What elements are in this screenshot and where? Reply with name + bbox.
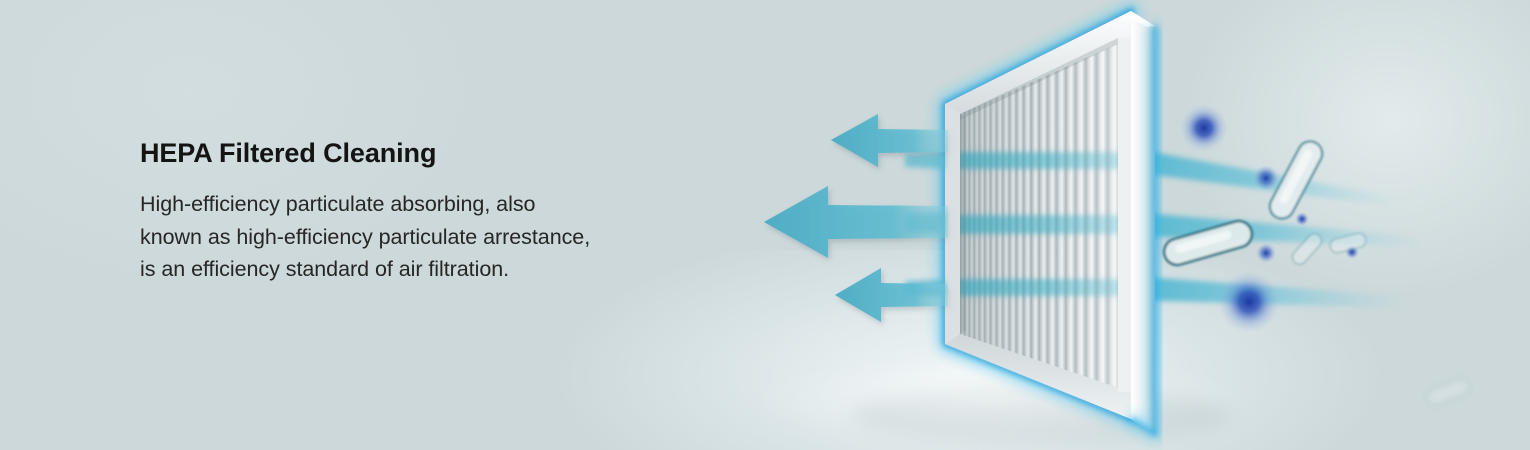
panel-floor-highlight (750, 354, 1250, 446)
germ-rod-large (1161, 218, 1255, 268)
description-line-3: is an efficiency standard of air filtrat… (140, 257, 509, 281)
filter-frame-rail-right (1118, 38, 1131, 392)
particle-dot-2 (1253, 165, 1279, 191)
pleated-hepa-filter-panel (945, 11, 1155, 434)
stream-through-media (950, 152, 1135, 296)
background-glow-right (1180, 0, 1530, 300)
text-block: HEPA Filtered Cleaning High-efficiency p… (140, 138, 740, 286)
particle-dot-1 (1180, 104, 1228, 152)
clean-air-shaft-middle (905, 213, 945, 234)
filter-panel-glow (945, 11, 1131, 419)
clean-air-shaft-bottom (905, 279, 945, 297)
clean-air-arrow-bottom (835, 268, 948, 322)
hepa-filter-banner: HEPA Filtered Cleaning High-efficiency p… (0, 0, 1530, 450)
filter-frame-face (945, 11, 1131, 419)
dirty-air-stream-middle (1131, 212, 1420, 247)
dirty-air-streams (1131, 148, 1420, 308)
particle-dot-5 (1345, 245, 1359, 259)
description-line-2: known as high-efficiency particulate arr… (140, 225, 590, 249)
filter-pleats (960, 20, 1119, 420)
germ-rod-faint-3 (1425, 376, 1472, 407)
germ-rod-faint-1 (1290, 231, 1324, 267)
dirty-air-stream-bottom (1131, 276, 1400, 308)
particle-dot-6 (1218, 271, 1280, 333)
filter-panel-top-edge (1128, 11, 1155, 27)
clean-air-arrows (764, 114, 948, 322)
particle-dot-3 (1295, 212, 1309, 226)
filter-panel-side-glow (1131, 26, 1155, 434)
clean-air-shafts (905, 152, 945, 297)
filter-frame-rail-left (945, 104, 960, 344)
filter-panel-side-glow-soft (1131, 26, 1155, 434)
germ-rod-faint-2 (1329, 232, 1367, 254)
clean-air-arrow-top (831, 114, 948, 167)
filter-panel-side (1131, 11, 1155, 434)
clean-air-arrow-middle (764, 186, 948, 258)
filter-media-inner-shadow (960, 38, 1118, 120)
filter-panel-glow-inner (945, 11, 1131, 419)
filter-media-inner-shadow-left (960, 114, 966, 334)
germ-rod-upper (1266, 137, 1327, 222)
clean-air-shaft-top (905, 152, 945, 169)
filter-frame-rail-bottom (945, 334, 1131, 419)
filter-pleat-media (950, 20, 1135, 420)
page-title: HEPA Filtered Cleaning (140, 138, 740, 169)
dirty-air-stream-top (1131, 148, 1390, 206)
filter-frame-rail-top (945, 11, 1131, 114)
description-line-1: High-efficiency particulate absorbing, a… (140, 192, 535, 216)
airborne-contaminants (1161, 104, 1471, 408)
particle-dot-4 (1256, 243, 1276, 263)
panel-floor-shadow (850, 389, 1230, 441)
page-description: High-efficiency particulate absorbing, a… (140, 169, 740, 286)
